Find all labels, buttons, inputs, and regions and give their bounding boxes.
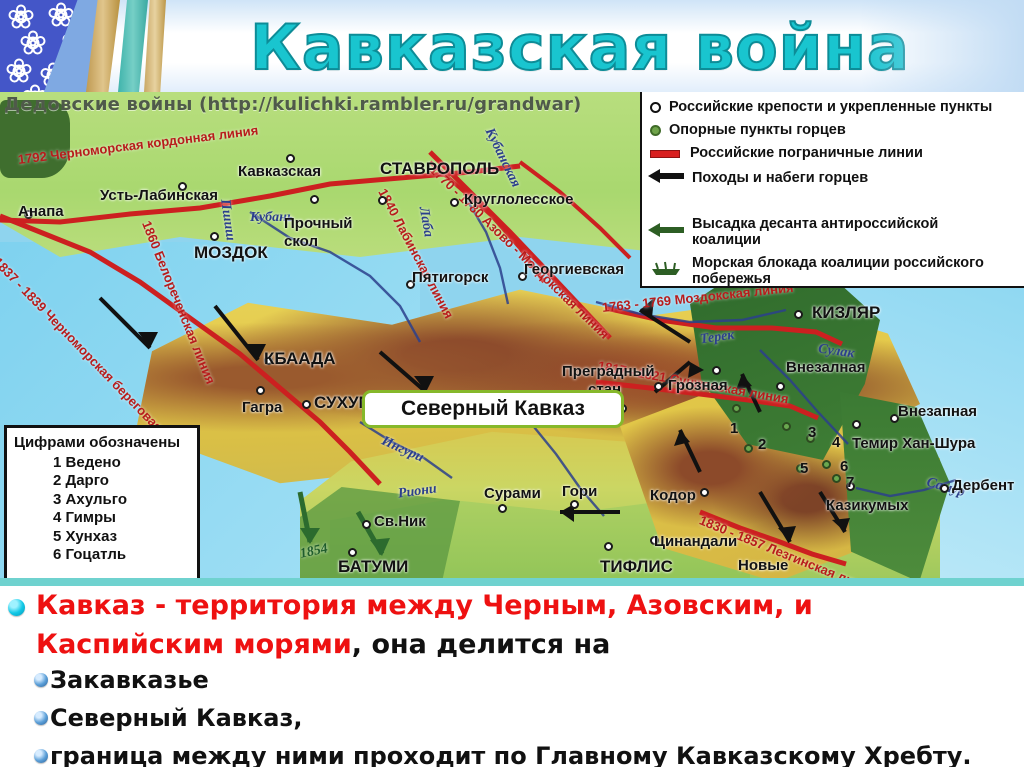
flower-icon	[8, 4, 34, 30]
bullet-icon-3	[34, 749, 48, 763]
number-marker-1: 1	[730, 420, 738, 437]
city-dot-derbent	[940, 484, 949, 493]
legend-label-raids: Походы и набеги горцев	[692, 171, 868, 187]
bottom-line1: Кавказ - территория между Черным, Азовск…	[36, 590, 813, 621]
bottom-line2-black: , она делится на	[352, 629, 611, 660]
city-label-tiflis: ТИФЛИС	[600, 558, 673, 576]
black-arrow-icon	[648, 168, 684, 189]
number-marker-5: 5	[800, 460, 808, 477]
map-source-caption: Дедовские войны (http://kulichki.rambler…	[4, 94, 581, 115]
city-label-mozdok: МОЗДОК	[194, 244, 268, 262]
number-key-item-6: 6 Гоцатль	[53, 546, 197, 564]
city-dot-gagra	[256, 386, 265, 395]
number-key-name-1: Ведено	[66, 454, 121, 471]
number-key-num-4: 4	[53, 509, 61, 526]
number-key-name-2: Дарго	[66, 472, 109, 489]
bullet-icon-1	[34, 673, 48, 687]
city-dot-stavropol	[378, 196, 387, 205]
title-band: Кавказская война	[0, 0, 1024, 92]
number-marker-3: 3	[808, 424, 816, 441]
city-dot-vnezalnaya	[776, 382, 785, 391]
bottom-text-block: Кавказ - территория между Черным, Азовск…	[0, 586, 1024, 767]
city-label-temir-khan-shura: Темир Хан-Шура	[852, 436, 975, 451]
decorative-gold-stripe-right	[144, 0, 166, 92]
city-dot-prochny-okop	[310, 195, 319, 204]
number-key-item-3: 3 Ахульго	[53, 491, 197, 509]
city-label-vnezapnaya: Внезапная	[898, 404, 977, 419]
number-key-name-6: Гоцатль	[66, 546, 127, 563]
city-label-kizlyar: КИЗЛЯР	[812, 304, 880, 322]
number-key-header: Цифрами обозначены	[14, 434, 197, 451]
callout-north-caucasus: Северный Кавказ	[362, 390, 624, 428]
city-label-gori: Гори	[562, 484, 597, 499]
city-label-pyatigorsk: Пятигорск	[412, 270, 488, 285]
city-label-ust-labinskaya: Усть-Лабинская	[100, 188, 218, 203]
number-key-box: Цифрами обозначены 1 Ведено 2 Дарго 3 Ах…	[4, 425, 200, 583]
city-label-novye: Новые	[738, 558, 788, 573]
bottom-bullet-2: Северный Кавказ,	[50, 704, 303, 732]
city-label-kodor: Кодор	[650, 488, 696, 503]
bullet-icon-main	[8, 599, 25, 616]
number-key-name-5: Хунхаз	[66, 528, 118, 545]
open-circle-icon	[650, 102, 661, 113]
city-label-batumi: БАТУМИ	[338, 558, 408, 576]
legend-label-naval-landing: Высадка десанта антироссийской коалиции	[692, 217, 992, 249]
red-bar-icon	[650, 150, 680, 158]
city-label-derbent: Дербент	[952, 478, 1014, 493]
city-dot-sv-nikolay	[362, 520, 371, 529]
caucasus-war-map: Дедовские войны (http://kulichki.rambler…	[0, 92, 1024, 586]
city-label-groznaya: Грозная	[668, 378, 728, 393]
city-dot-kodor	[700, 488, 709, 497]
green-dot-icon	[650, 125, 661, 136]
bullet-icon-2	[34, 711, 48, 725]
city-dot-surami	[498, 504, 507, 513]
blockade-icon	[648, 260, 684, 283]
city-label-prochny-second: скол	[284, 234, 318, 249]
number-key-item-5: 5 Хунхаз	[53, 528, 197, 546]
city-label-pregradny: Преградный	[562, 364, 655, 379]
stronghold-dot-7	[832, 474, 841, 483]
bottom-line2-red: Каспийским морями	[36, 629, 352, 660]
legend-label-border-lines: Российские пограничные линии	[690, 146, 923, 162]
number-key-name-4: Гимры	[66, 509, 116, 526]
city-dot-mozdok	[210, 232, 219, 241]
bottom-line2: Каспийским морями, она делится на	[36, 629, 610, 660]
number-marker-4: 4	[832, 434, 840, 451]
city-label-kazikumykh: Казикумых	[826, 498, 908, 513]
city-label-surami: Сурами	[484, 486, 541, 501]
city-dot-temir-khan-shura	[852, 420, 861, 429]
number-key-list: 1 Ведено 2 Дарго 3 Ахульго 4 Гимры 5 Х	[7, 454, 197, 565]
number-key-name-3: Ахульго	[66, 491, 127, 508]
stronghold-dot-2	[744, 444, 753, 453]
number-marker-6: 6	[840, 458, 848, 475]
city-label-anapa: Анапа	[18, 204, 64, 219]
slide-root: Кавказская война	[0, 0, 1024, 767]
number-key-item-4: 4 Гимры	[53, 509, 197, 527]
city-label-kbaada: КБААДА	[264, 350, 336, 368]
city-label-stavropol: СТАВРОПОЛЬ	[380, 160, 499, 178]
number-key-num-3: 3	[53, 491, 61, 508]
number-key-item-1: 1 Ведено	[53, 454, 197, 472]
number-marker-2: 2	[758, 436, 766, 453]
flower-icon	[6, 58, 32, 84]
city-label-gagra: Гагра	[242, 400, 282, 415]
flower-icon	[20, 30, 46, 56]
legend-label-fortresses: Российские крепости и укрепленные пункты	[669, 100, 992, 116]
stronghold-dot-3	[782, 422, 791, 431]
number-marker-7: 7	[846, 474, 854, 491]
bottom-bullet-1: Закавказье	[50, 666, 209, 694]
legend-label-highlander-strongholds: Опорные пункты горцев	[669, 123, 846, 139]
number-key-item-2: 2 Дарго	[53, 472, 197, 490]
city-dot-groznaya	[712, 366, 721, 375]
stronghold-dot-1	[732, 404, 741, 413]
number-key-num-2: 2	[53, 472, 61, 489]
city-dot-kruglolesskoe	[450, 198, 459, 207]
flower-icon	[22, 84, 48, 92]
stronghold-dot-6	[822, 460, 831, 469]
number-key-num-6: 6	[53, 546, 61, 563]
city-label-kavkazskaya: Кавказская	[238, 164, 321, 179]
green-arrow-icon	[648, 222, 684, 243]
legend-label-naval-blockade: Морская блокада коалиции российского поб…	[692, 256, 992, 288]
city-label-georgievskaya: Георгиевская	[524, 262, 624, 277]
map-legend: Российские крепости и укрепленные пункты…	[640, 92, 1024, 288]
city-label-vnezalnaya: Внезалная	[786, 360, 866, 375]
city-label-sv-nikolay: Св.Ник	[374, 514, 426, 529]
city-dot-tiflis	[604, 542, 613, 551]
bottom-bullet-3: граница между ними проходит по Главному …	[50, 742, 972, 767]
map-bottom-band	[0, 578, 1024, 586]
city-dot-sukhum	[302, 400, 311, 409]
city-dot-gori	[570, 500, 579, 509]
city-dot-kavkazskaya	[286, 154, 295, 163]
city-dot-batumi	[348, 548, 357, 557]
city-dot-kizlyar	[794, 310, 803, 319]
decorative-teal-stripe	[118, 0, 148, 92]
city-label-tsinandali: Цинандали	[654, 534, 737, 549]
page-title: Кавказская война	[200, 4, 960, 90]
city-label-prochny: Прочный	[284, 216, 353, 231]
number-key-num-1: 1	[53, 454, 61, 471]
city-dot-pregradny-stan	[654, 382, 663, 391]
number-key-num-5: 5	[53, 528, 61, 545]
city-label-kruglolesskoe: Круглолесское	[464, 192, 573, 207]
